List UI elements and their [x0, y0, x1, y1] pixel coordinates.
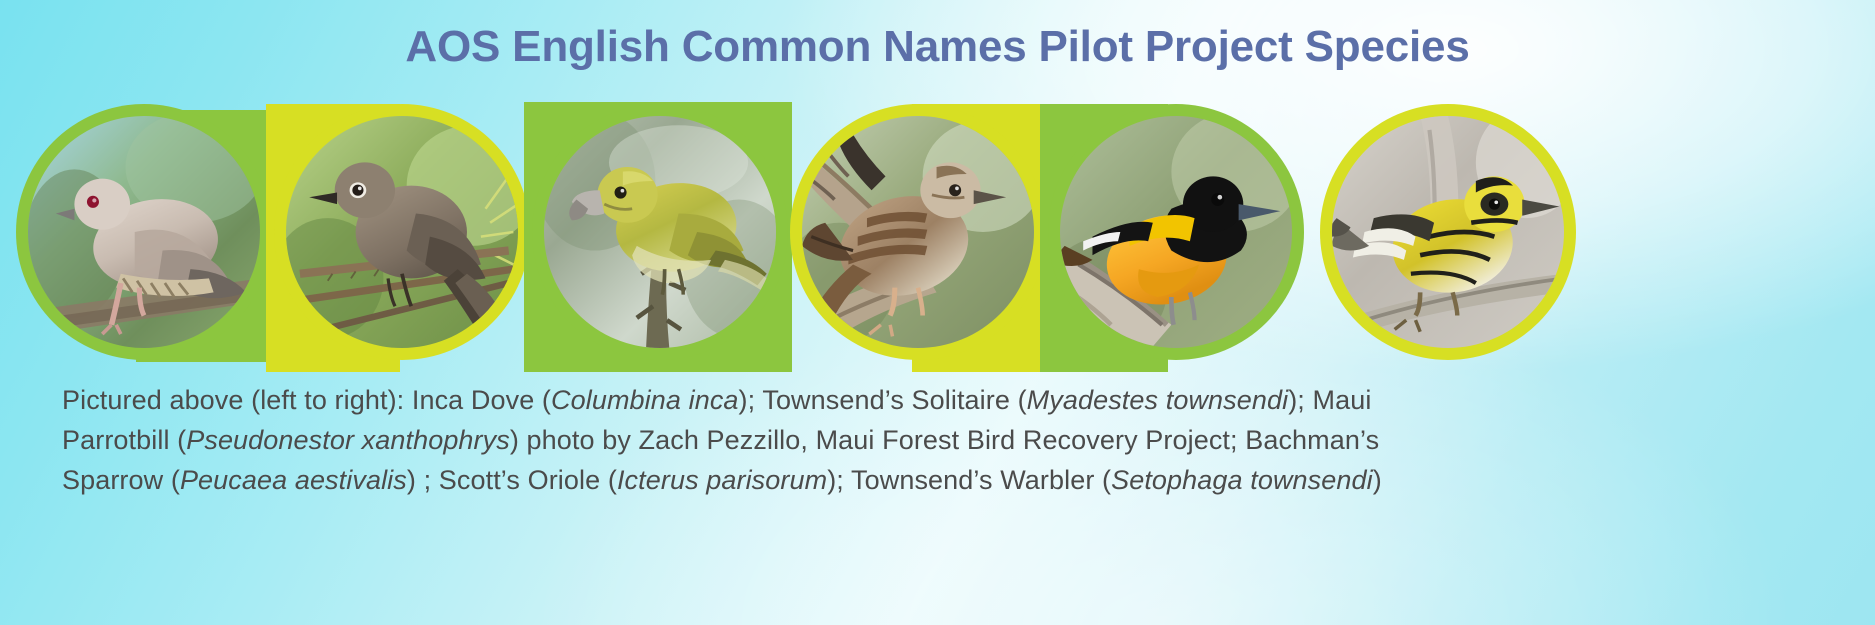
- species-item-bachmans-sparrow[interactable]: [782, 100, 1050, 372]
- photo-ring: [532, 104, 788, 360]
- caption-t5: ); Townsend’s Warbler (: [827, 465, 1111, 495]
- species-item-inca-dove[interactable]: [8, 100, 276, 372]
- photo-ring: [1320, 104, 1576, 360]
- scientific-name-myadestes-townsendi: Myadestes townsendi: [1027, 385, 1289, 415]
- townsends-solitaire-photo: [286, 116, 518, 348]
- caption-t6: ): [1373, 465, 1382, 495]
- caption-t1: ); Townsend’s Solitaire (: [739, 385, 1027, 415]
- aos-species-banner: AOS English Common Names Pilot Project S…: [0, 0, 1875, 625]
- scientific-name-columbina-inca: Columbina inca: [551, 385, 739, 415]
- species-item-townsends-warbler[interactable]: [1312, 100, 1580, 372]
- scotts-oriole-photo: [1060, 116, 1292, 348]
- photo-ring: [790, 104, 1046, 360]
- caption-t4: ) ; Scott’s Oriole (: [407, 465, 617, 495]
- inca-dove-photo: [28, 116, 260, 348]
- scientific-name-icterus-parisorum: Icterus parisorum: [617, 465, 827, 495]
- photo-ring: [16, 104, 272, 360]
- page-title: AOS English Common Names Pilot Project S…: [0, 22, 1875, 72]
- species-item-maui-parrotbill[interactable]: [524, 100, 792, 372]
- townsends-warbler-photo: [1332, 116, 1564, 348]
- species-photo-strip: [0, 100, 1875, 372]
- bachmans-sparrow-photo: [802, 116, 1034, 348]
- scientific-name-pseudonestor-xanthophrys: Pseudonestor xanthophrys: [186, 425, 510, 455]
- photo-credit-caption: Pictured above (left to right): Inca Dov…: [62, 380, 1462, 500]
- caption-lead: Pictured above (left to right): Inca Dov…: [62, 385, 551, 415]
- species-item-townsends-solitaire[interactable]: [266, 100, 534, 372]
- maui-parrotbill-photo: [544, 116, 776, 348]
- scientific-name-setophaga-townsendi: Setophaga townsendi: [1111, 465, 1373, 495]
- species-item-scotts-oriole[interactable]: [1040, 100, 1308, 372]
- scientific-name-peucaea-aestivalis: Peucaea aestivalis: [180, 465, 407, 495]
- photo-ring: [1048, 104, 1304, 360]
- photo-ring: [274, 104, 530, 360]
